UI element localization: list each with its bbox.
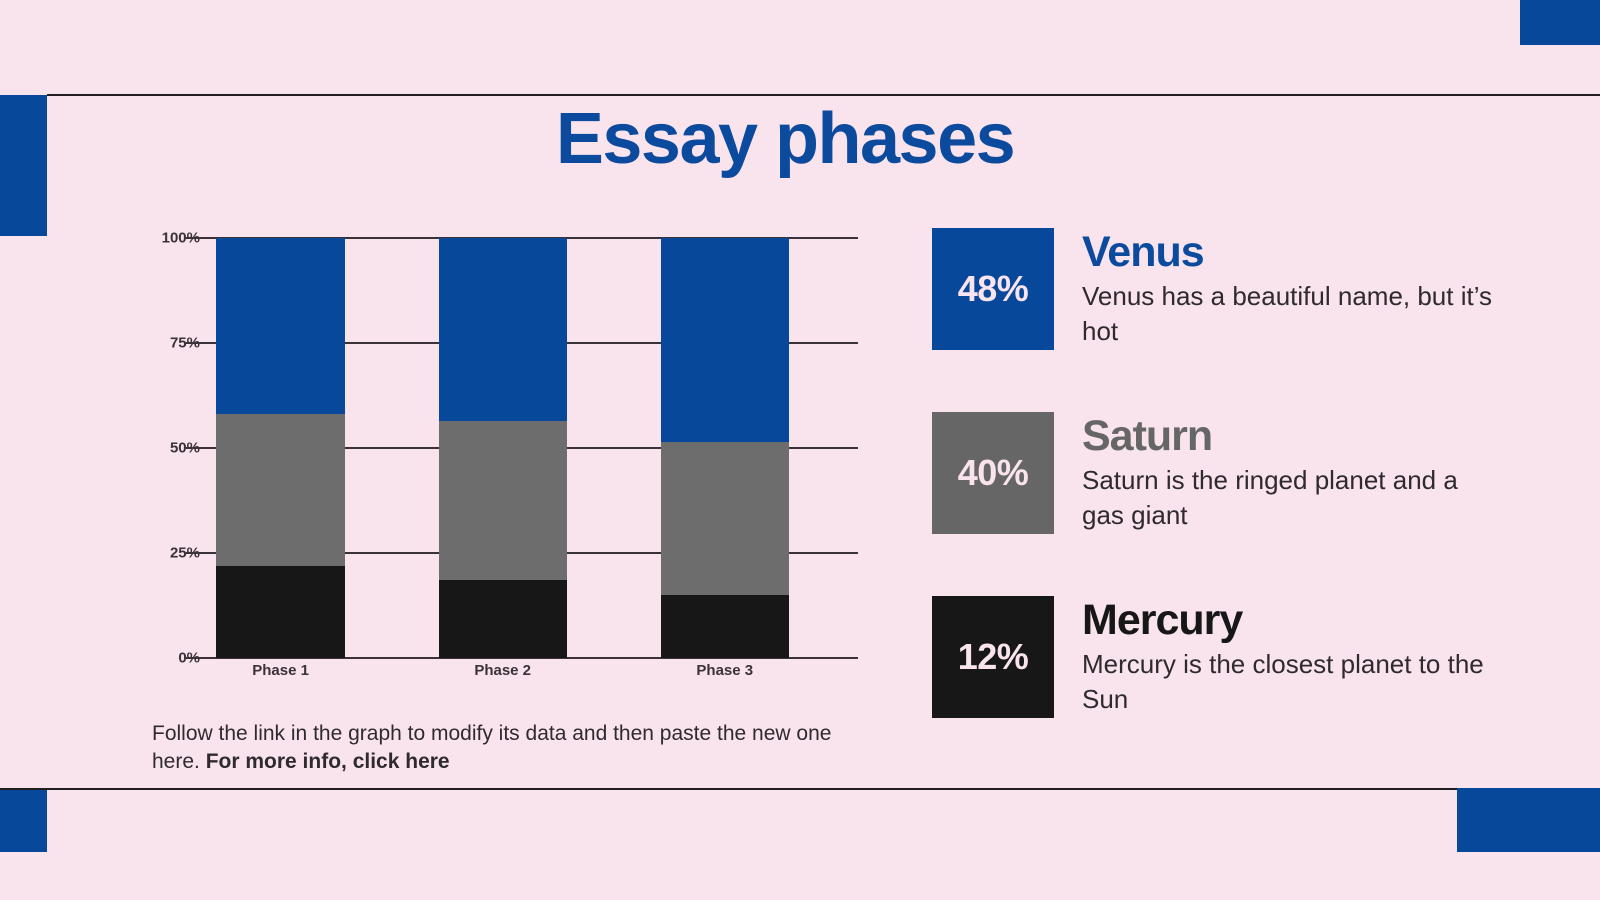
stat-description-venus: Venus has a beautiful name, but it’s hot bbox=[1082, 279, 1502, 348]
chart-footnote: Follow the link in the graph to modify i… bbox=[152, 720, 872, 777]
axis-tick-mark bbox=[186, 447, 200, 449]
stat-name-mercury: Mercury bbox=[1082, 598, 1502, 643]
chart-bars bbox=[200, 238, 858, 658]
stat-text-venus: VenusVenus has a beautiful name, but it’… bbox=[1054, 228, 1502, 348]
stat-description-saturn: Saturn is the ringed planet and a gas gi… bbox=[1082, 463, 1502, 532]
chart-footnote-link[interactable]: For more info, click here bbox=[206, 750, 450, 773]
bar-column-phase-3[interactable] bbox=[661, 238, 789, 658]
stat-row-saturn: 40%SaturnSaturn is the ringed planet and… bbox=[932, 412, 1552, 534]
x-axis-label-phase-3: Phase 3 bbox=[661, 662, 789, 679]
bar-segment-venus[interactable] bbox=[439, 238, 567, 421]
stat-description-mercury: Mercury is the closest planet to the Sun bbox=[1082, 647, 1502, 716]
bar-column-phase-2[interactable] bbox=[439, 238, 567, 658]
axis-tick-mark bbox=[186, 552, 200, 554]
stat-percent-badge-venus: 48% bbox=[932, 228, 1054, 350]
x-axis-tick-labels: Phase 1Phase 2Phase 3 bbox=[200, 662, 858, 679]
axis-tick-mark bbox=[186, 657, 200, 659]
stat-name-saturn: Saturn bbox=[1082, 414, 1502, 459]
bar-segment-saturn[interactable] bbox=[661, 442, 789, 595]
stat-percent-badge-saturn: 40% bbox=[932, 412, 1054, 534]
page-title: Essay phases bbox=[0, 103, 1570, 175]
stat-percent-badge-mercury: 12% bbox=[932, 596, 1054, 718]
chart-plot-region: 0%25%50%75%100% Phase 1Phase 2Phase 3 bbox=[130, 238, 860, 678]
stat-row-venus: 48%VenusVenus has a beautiful name, but … bbox=[932, 228, 1552, 350]
bar-segment-venus[interactable] bbox=[216, 238, 344, 414]
divider-bottom bbox=[0, 788, 1457, 790]
axis-tick-mark bbox=[186, 237, 200, 239]
bar-segment-mercury[interactable] bbox=[439, 580, 567, 658]
stacked-bar-chart: 0%25%50%75%100% Phase 1Phase 2Phase 3 Fo… bbox=[130, 238, 870, 738]
stat-text-saturn: SaturnSaturn is the ringed planet and a … bbox=[1054, 412, 1502, 532]
decoration-bottom-right-rect bbox=[1457, 788, 1600, 852]
bar-column-phase-1[interactable] bbox=[216, 238, 344, 658]
x-axis-label-phase-2: Phase 2 bbox=[439, 662, 567, 679]
decoration-bottom-left-rect bbox=[0, 788, 47, 852]
stat-row-mercury: 12%MercuryMercury is the closest planet … bbox=[932, 596, 1552, 718]
stats-panel: 48%VenusVenus has a beautiful name, but … bbox=[932, 228, 1552, 718]
axis-tick-mark bbox=[186, 342, 200, 344]
bar-segment-mercury[interactable] bbox=[216, 566, 344, 658]
decoration-top-right-rect bbox=[1520, 0, 1600, 45]
stat-name-venus: Venus bbox=[1082, 230, 1502, 275]
bar-segment-venus[interactable] bbox=[661, 238, 789, 442]
stat-text-mercury: MercuryMercury is the closest planet to … bbox=[1054, 596, 1502, 716]
x-axis-label-phase-1: Phase 1 bbox=[216, 662, 344, 679]
bar-segment-mercury[interactable] bbox=[661, 595, 789, 658]
bar-segment-saturn[interactable] bbox=[439, 421, 567, 581]
slide-canvas: Essay phases 0%25%50%75%100% Phase 1Phas… bbox=[0, 0, 1600, 900]
divider-top bbox=[47, 94, 1600, 96]
chart-plot-area bbox=[200, 238, 858, 658]
bar-segment-saturn[interactable] bbox=[216, 414, 344, 565]
